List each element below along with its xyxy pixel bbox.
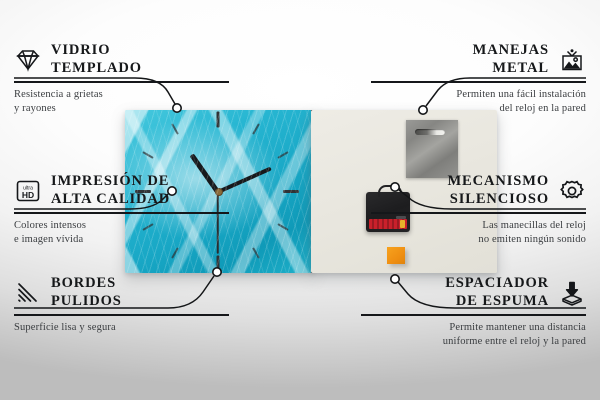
foam-spacer-icon <box>558 280 586 306</box>
feature-desc-line2: y rayones <box>14 102 229 116</box>
feature-title-line1: ESPACIADOR <box>445 275 549 293</box>
diamond-icon <box>14 47 42 73</box>
feature-divider <box>361 314 586 316</box>
feature-desc-line1: Resistencia a grietas <box>14 88 229 102</box>
feature-heading: ESPACIADOR DE ESPUMA <box>361 275 586 310</box>
clock-tick <box>277 151 288 159</box>
feature-heading: VIDRIO TEMPLADO <box>14 42 229 77</box>
feature-title-line1: MECANISMO <box>447 173 549 191</box>
feature-title-line1: VIDRIO <box>51 42 142 60</box>
metal-hanger-plate <box>406 120 458 178</box>
feature-desc-line2: no emiten ningún sonido <box>371 233 586 247</box>
feature-title-line2: PULIDOS <box>51 293 122 311</box>
feature-desc-line1: Colores intensos <box>14 219 229 233</box>
polished-edges-icon <box>14 280 42 306</box>
clock-tick <box>252 123 260 134</box>
picture-frame-hanger-icon <box>558 47 586 73</box>
clock-tick <box>217 256 220 272</box>
svg-text:HD: HD <box>22 189 34 199</box>
clock-tick <box>277 223 288 231</box>
feature-bordes-pulidos[interactable]: BORDES PULIDOS Superficie lisa y segura <box>14 275 229 335</box>
feature-desc-line2: e imagen vívida <box>14 233 229 247</box>
feature-divider <box>14 81 229 83</box>
feature-divider <box>371 212 586 214</box>
feature-manejas-metal[interactable]: MANEJAS METAL Permiten una fácil instala… <box>371 42 586 116</box>
feature-vidrio-templado[interactable]: VIDRIO TEMPLADO Resistencia a grietas y … <box>14 42 229 116</box>
clock-tick <box>171 247 179 258</box>
clock-tick <box>171 123 179 134</box>
feature-heading: MANEJAS METAL <box>371 42 586 77</box>
feature-title-line1: BORDES <box>51 275 122 293</box>
feature-title-line2: ALTA CALIDAD <box>51 191 170 209</box>
feature-heading: BORDES PULIDOS <box>14 275 229 310</box>
feature-desc-line1: Permite mantener una distancia <box>361 321 586 335</box>
feature-desc-line1: Superficie lisa y segura <box>14 321 229 335</box>
clock-tick <box>252 247 260 258</box>
feature-title-line2: SILENCIOSO <box>447 191 549 209</box>
clock-tick <box>142 151 153 159</box>
foam-spacer-pad <box>387 247 405 264</box>
feature-title-line2: METAL <box>473 60 549 78</box>
feature-heading: ultra HD IMPRESIÓN DE ALTA CALIDAD <box>14 173 229 208</box>
infographic-canvas: VIDRIO TEMPLADO Resistencia a grietas y … <box>0 0 600 400</box>
feature-mecanismo-silencioso[interactable]: MECANISMO SILENCIOSO Las manecillas del … <box>371 173 586 247</box>
feature-divider <box>371 81 586 83</box>
ultra-hd-badge-icon: ultra HD <box>14 178 42 204</box>
gear-icon <box>558 178 586 204</box>
feature-desc-line1: Permiten una fácil instalación <box>371 88 586 102</box>
feature-desc-line1: Las manecillas del reloj <box>371 219 586 233</box>
feature-title-line2: DE ESPUMA <box>445 293 549 311</box>
feature-impresion-alta-calidad[interactable]: ultra HD IMPRESIÓN DE ALTA CALIDAD Color… <box>14 173 229 247</box>
feature-title-line1: IMPRESIÓN DE <box>51 173 170 191</box>
feature-divider <box>14 314 229 316</box>
hanger-slot <box>415 129 445 135</box>
feature-title-line1: MANEJAS <box>473 42 549 60</box>
feature-desc-line2: uniforme entre el reloj y la pared <box>361 335 586 349</box>
feature-desc-line2: del reloj en la pared <box>371 102 586 116</box>
feature-title-line2: TEMPLADO <box>51 60 142 78</box>
feature-divider <box>14 212 229 214</box>
feature-espaciador-de-espuma[interactable]: ESPACIADOR DE ESPUMA Permite mantener un… <box>361 275 586 349</box>
feature-heading: MECANISMO SILENCIOSO <box>371 173 586 208</box>
clock-tick <box>283 190 299 193</box>
